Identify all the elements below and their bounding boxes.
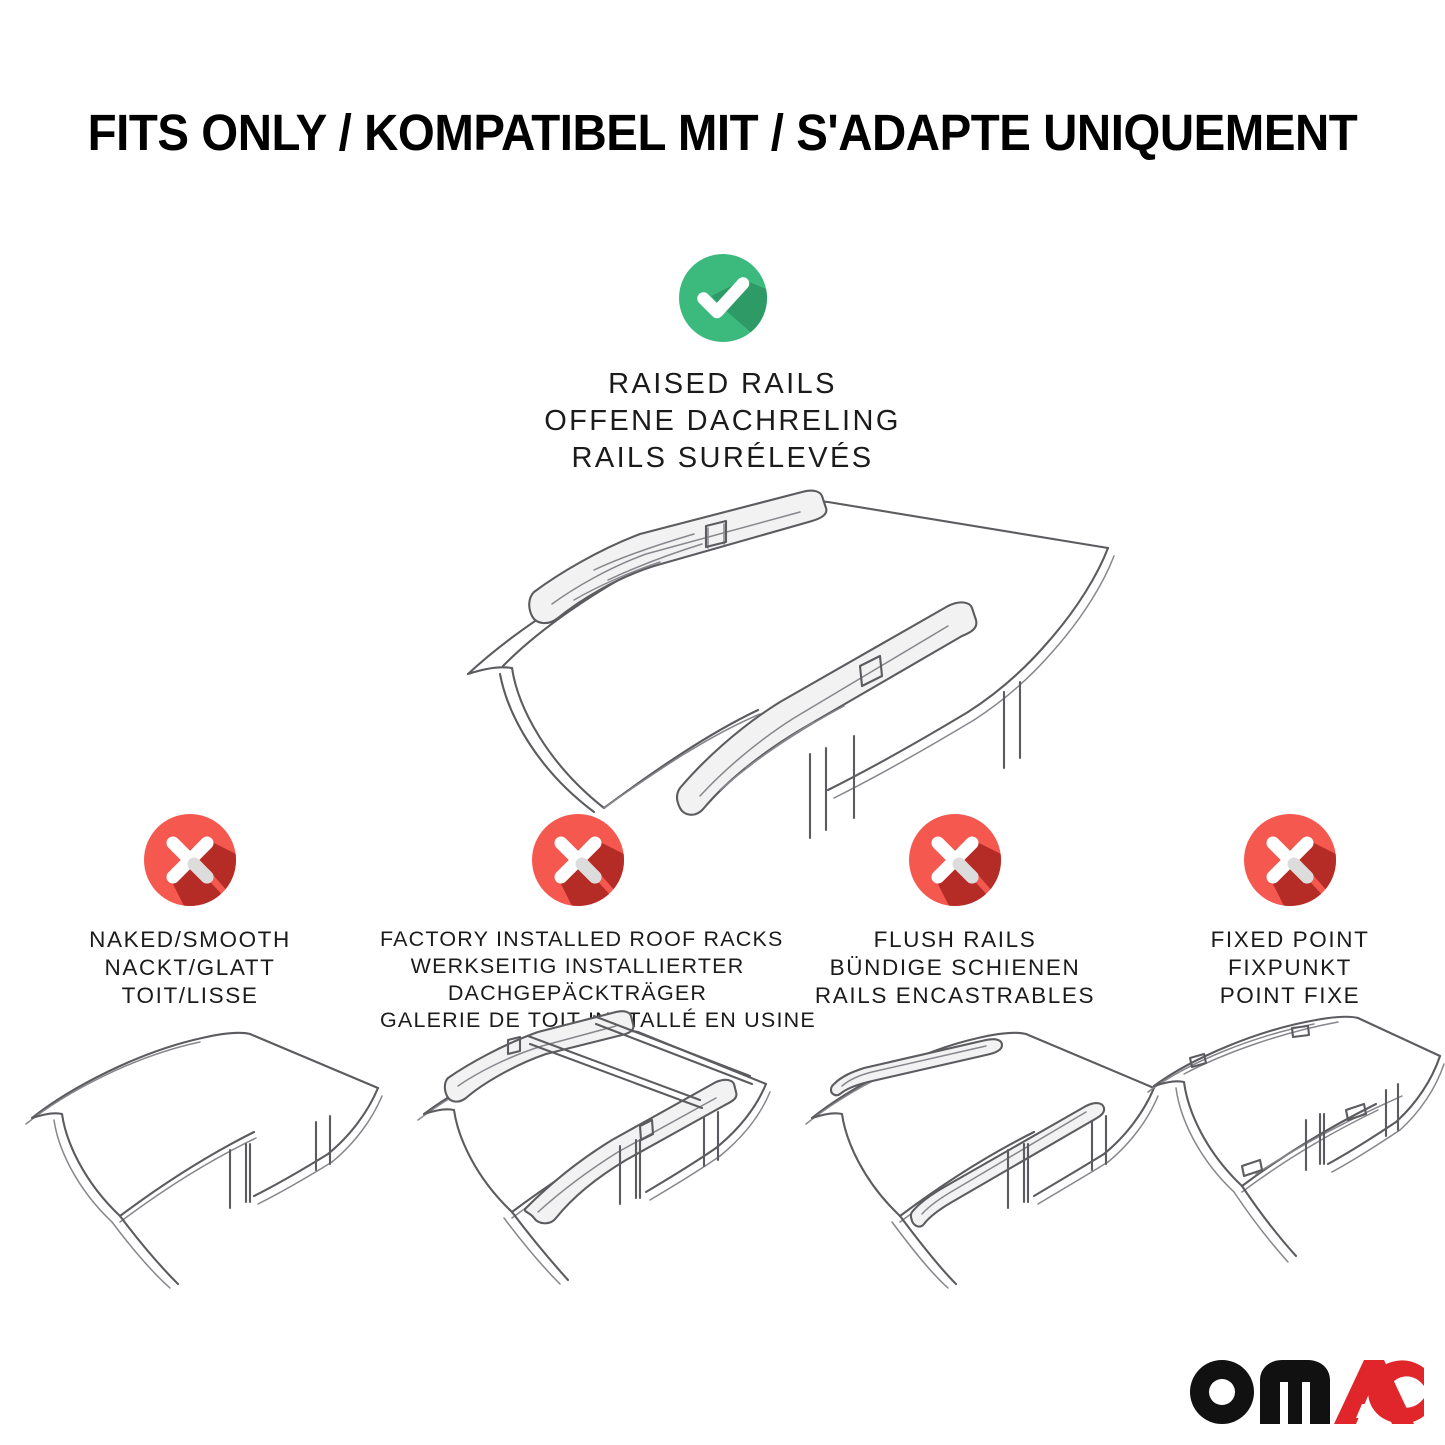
incompatible-column-factory-roof-racks: FACTORY INSTALLED ROOF RACKS WERKSEITIG …	[380, 812, 775, 1034]
cross-circle-icon	[1242, 812, 1338, 908]
car-roof-flush-rails-illustration	[786, 1018, 1166, 1288]
page-title: FITS ONLY / KOMPATIBEL MIT / S'ADAPTE UN…	[51, 104, 1395, 162]
incompatible-label-en: FLUSH RAILS	[775, 926, 1135, 954]
logo-letter-m	[1260, 1360, 1330, 1424]
compatible-label-fr: RAILS SURÉLEVÉS	[0, 440, 1445, 477]
cross-circle-icon	[142, 812, 238, 908]
incompatible-label-fr: RAILS ENCASTRABLES	[775, 982, 1135, 1010]
incompatible-labels: FIXED POINT FIXPUNKT POINT FIXE	[1135, 926, 1445, 1010]
car-roof-raised-rails-illustration	[408, 478, 1068, 808]
incompatible-column-flush-rails: FLUSH RAILS BÜNDIGE SCHIENEN RAILS ENCAS…	[775, 812, 1135, 1034]
compatibility-infographic: FITS ONLY / KOMPATIBEL MIT / S'ADAPTE UN…	[0, 0, 1445, 1445]
incompatible-label-en: FIXED POINT	[1135, 926, 1445, 954]
car-roof-factory-roof-racks-illustration	[398, 1018, 788, 1288]
incompatible-label-de-2: DACHGEPÄCKTRÄGER	[380, 980, 775, 1007]
incompatible-labels: FLUSH RAILS BÜNDIGE SCHIENEN RAILS ENCAS…	[775, 926, 1135, 1010]
omac-logo	[1188, 1352, 1424, 1428]
logo-letter-o	[1190, 1360, 1254, 1424]
incompatible-label-de-1: WERKSEITIG INSTALLIERTER	[380, 953, 775, 980]
cross-circle-icon	[907, 812, 1003, 908]
incompatible-label-en: NAKED/SMOOTH	[0, 926, 380, 954]
incompatible-label-de: FIXPUNKT	[1135, 954, 1445, 982]
incompatible-column-naked-smooth: NAKED/SMOOTH NACKT/GLATT TOIT/LISSE	[0, 812, 380, 1034]
compatible-labels: RAISED RAILS OFFENE DACHRELING RAILS SUR…	[0, 366, 1445, 477]
check-circle-icon	[677, 252, 769, 344]
cross-circle-icon	[530, 812, 626, 908]
car-roof-naked-smooth-illustration	[10, 1018, 400, 1288]
incompatible-section: NAKED/SMOOTH NACKT/GLATT TOIT/LISSE	[0, 812, 1445, 1034]
incompatible-label-de: BÜNDIGE SCHIENEN	[775, 954, 1135, 982]
compatible-label-de: OFFENE DACHRELING	[0, 403, 1445, 440]
compatible-section: RAISED RAILS OFFENE DACHRELING RAILS SUR…	[0, 252, 1445, 477]
incompatible-label-en: FACTORY INSTALLED ROOF RACKS	[380, 926, 775, 953]
incompatible-labels: NAKED/SMOOTH NACKT/GLATT TOIT/LISSE	[0, 926, 380, 1010]
incompatible-label-fr: POINT FIXE	[1135, 982, 1445, 1010]
incompatible-label-de: NACKT/GLATT	[0, 954, 380, 982]
incompatible-column-fixed-point: FIXED POINT FIXPUNKT POINT FIXE	[1135, 812, 1445, 1034]
incompatible-label-fr: TOIT/LISSE	[0, 982, 380, 1010]
compatible-label-en: RAISED RAILS	[0, 366, 1445, 403]
car-roof-fixed-point-illustration	[1140, 1018, 1445, 1288]
